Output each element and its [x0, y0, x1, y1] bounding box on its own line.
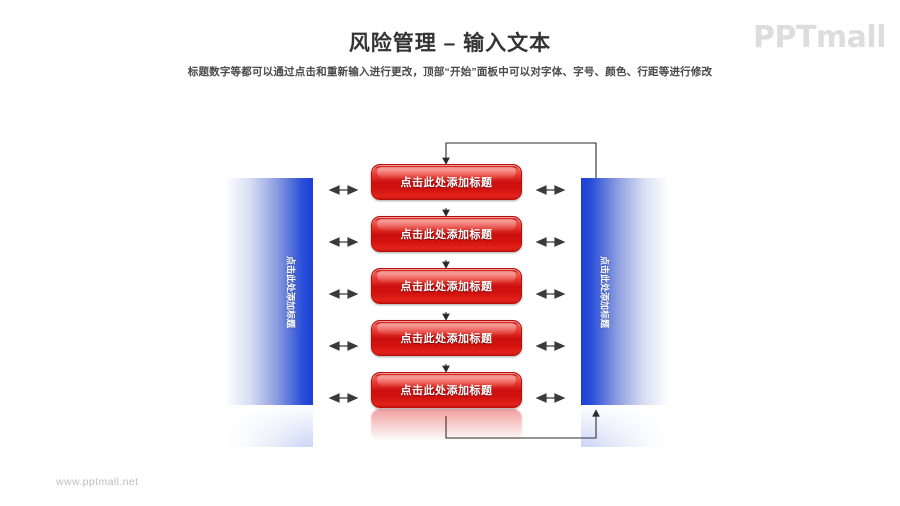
double-arrow-right-2: [537, 238, 564, 246]
double-arrow-left-4: [330, 342, 357, 350]
right-double-arrows: [537, 186, 564, 402]
side-bar-left-fill: [225, 178, 313, 405]
step-box-5-label: 点击此处添加标题: [401, 382, 493, 398]
side-bar-right[interactable]: 点击此处添加标题: [581, 178, 669, 405]
step-box-2-label: 点击此处添加标题: [401, 226, 493, 242]
step-box-5[interactable]: 点击此处添加标题: [371, 372, 522, 408]
footer-url[interactable]: www.pptmall.net: [56, 476, 138, 488]
double-arrow-right-5: [537, 394, 564, 402]
double-arrow-left-3: [330, 290, 357, 298]
step-box-4[interactable]: 点击此处添加标题: [371, 320, 522, 356]
side-bar-left-reflection: [225, 405, 313, 447]
side-bar-right-reflection: [581, 405, 669, 447]
double-arrow-left-1: [330, 186, 357, 194]
step-box-4-label: 点击此处添加标题: [401, 330, 493, 346]
step-box-3-label: 点击此处添加标题: [401, 278, 493, 294]
side-bar-left[interactable]: 点击此处添加标题: [225, 178, 313, 405]
double-arrow-right-3: [537, 290, 564, 298]
side-bar-right-label[interactable]: 点击此处添加标题: [599, 255, 612, 327]
step-box-2[interactable]: 点击此处添加标题: [371, 216, 522, 252]
step-box-1-label: 点击此处添加标题: [401, 174, 493, 190]
step-box-1[interactable]: 点击此处添加标题: [371, 164, 522, 200]
double-arrow-right-1: [537, 186, 564, 194]
double-arrow-right-4: [537, 342, 564, 350]
double-arrow-left-2: [330, 238, 357, 246]
left-double-arrows: [330, 186, 357, 402]
step-box-3[interactable]: 点击此处添加标题: [371, 268, 522, 304]
risk-management-diagram: 点击此处添加标题 点击此处添加标题 点击此处添加标题 点击此处添加标题 点击此处…: [0, 0, 900, 506]
side-bar-right-fill: [581, 178, 669, 405]
side-bar-left-label[interactable]: 点击此处添加标题: [285, 255, 298, 327]
double-arrow-left-5: [330, 394, 357, 402]
step-box-reflection: [371, 409, 522, 441]
